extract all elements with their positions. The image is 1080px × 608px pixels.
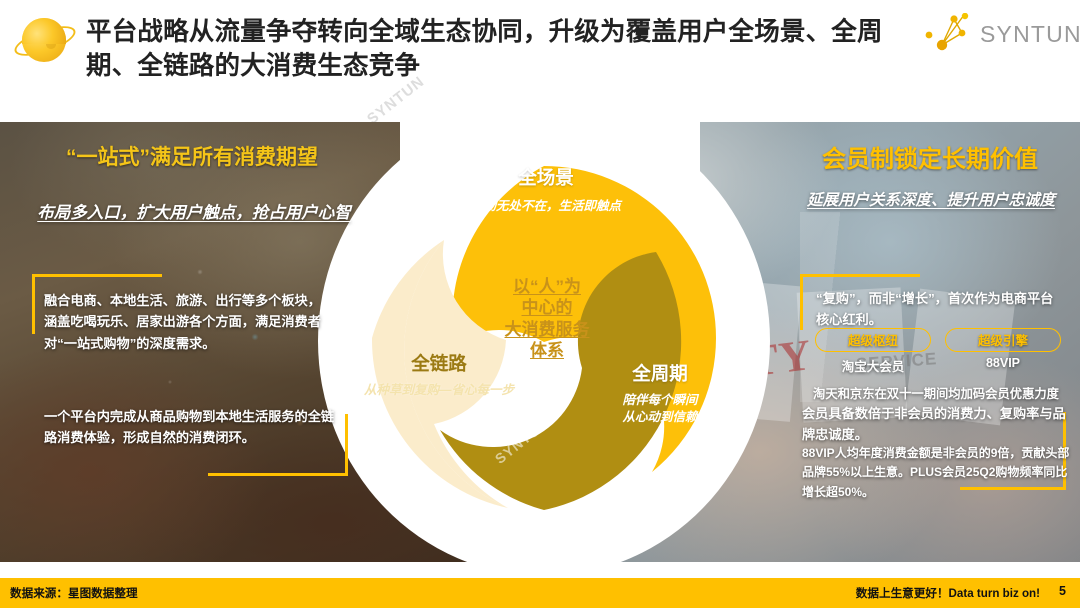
footer-tagline: 数据上生意更好！Data turn biz on! — [856, 585, 1040, 601]
slide-header: 平台战略从流量争夺转向全域生态协同，升级为覆盖用户全场景、全周期、全链路的大消费… — [0, 0, 1080, 122]
right-panel-subheading: 延展用户关系深度、提升用户忠诚度 — [790, 190, 1072, 212]
logo-mark-icon — [924, 13, 976, 59]
left-panel-point-2: 一个平台内完成从商品购物到本地生活服务的全链路消费体验，形成自然的消费闭环。 — [32, 400, 342, 455]
right-panel-point-1: “复购”，而非“增长”，首次作为电商平台核心红利。 — [806, 280, 1068, 334]
planet-ring-mask — [22, 18, 66, 44]
content-band: LOYALTY SERVICE “一站式”满足所有消费期望 布局多入口，扩大用户… — [0, 122, 1080, 562]
slide: 平台战略从流量争夺转向全域生态协同，升级为覆盖用户全场景、全周期、全链路的大消费… — [0, 0, 1080, 608]
badge-label: 超级引擎 — [945, 328, 1061, 352]
badge-caption: 88VIP — [945, 356, 1061, 370]
footer-spacer — [0, 562, 1080, 578]
left-panel-subheading: 布局多入口，扩大用户触点，抢占用户心智 — [28, 202, 360, 225]
planet-icon — [14, 14, 76, 66]
membership-badge-2: 超级引擎 88VIP — [945, 328, 1061, 375]
right-panel-point-2: 会员具备数倍于非会员的消费力、复购率与品牌忠诚度。 — [802, 404, 1072, 446]
page-title: 平台战略从流量争夺转向全域生态协同，升级为覆盖用户全场景、全周期、全链路的大消费… — [86, 16, 886, 83]
left-panel-heading: “一站式”满足所有消费期望 — [24, 144, 360, 172]
membership-badges: 超级枢纽 淘宝大会员 超级引擎 88VIP — [806, 328, 1070, 375]
right-panel-point-2-detail: 88VIP人均年度消费金额是非会员的9倍，贡献头部品牌55%以上生意。PLUS会… — [802, 444, 1074, 502]
slide-footer: 数据来源：星图数据整理 数据上生意更好！Data turn biz on! 5 — [0, 578, 1080, 608]
left-panel-point-1: 融合电商、本地生活、旅游、出行等多个板块，涵盖吃喝玩乐、居家出游各个方面，满足消… — [32, 280, 332, 360]
badge-note: 淘天和京东在双十一期间均加码会员优惠力度 — [792, 384, 1080, 402]
syntun-logo: SYNTUN — [924, 13, 1064, 59]
membership-badge-1: 超级枢纽 淘宝大会员 — [815, 328, 931, 375]
diagram-final — [322, 128, 766, 548]
footer-page-number: 5 — [1059, 584, 1066, 598]
badge-caption: 淘宝大会员 — [815, 356, 931, 375]
ecosystem-diagram: 全场景 购物无处不在，生活即触点 全链路 从种草到复购—省心每一步 全周期 陪伴… — [322, 128, 766, 548]
right-panel-heading: 会员制锁定长期价值 — [790, 144, 1070, 175]
logo-text: SYNTUN — [980, 21, 1080, 48]
footer-source: 数据来源：星图数据整理 — [10, 585, 138, 601]
badge-label: 超级枢纽 — [815, 328, 931, 352]
